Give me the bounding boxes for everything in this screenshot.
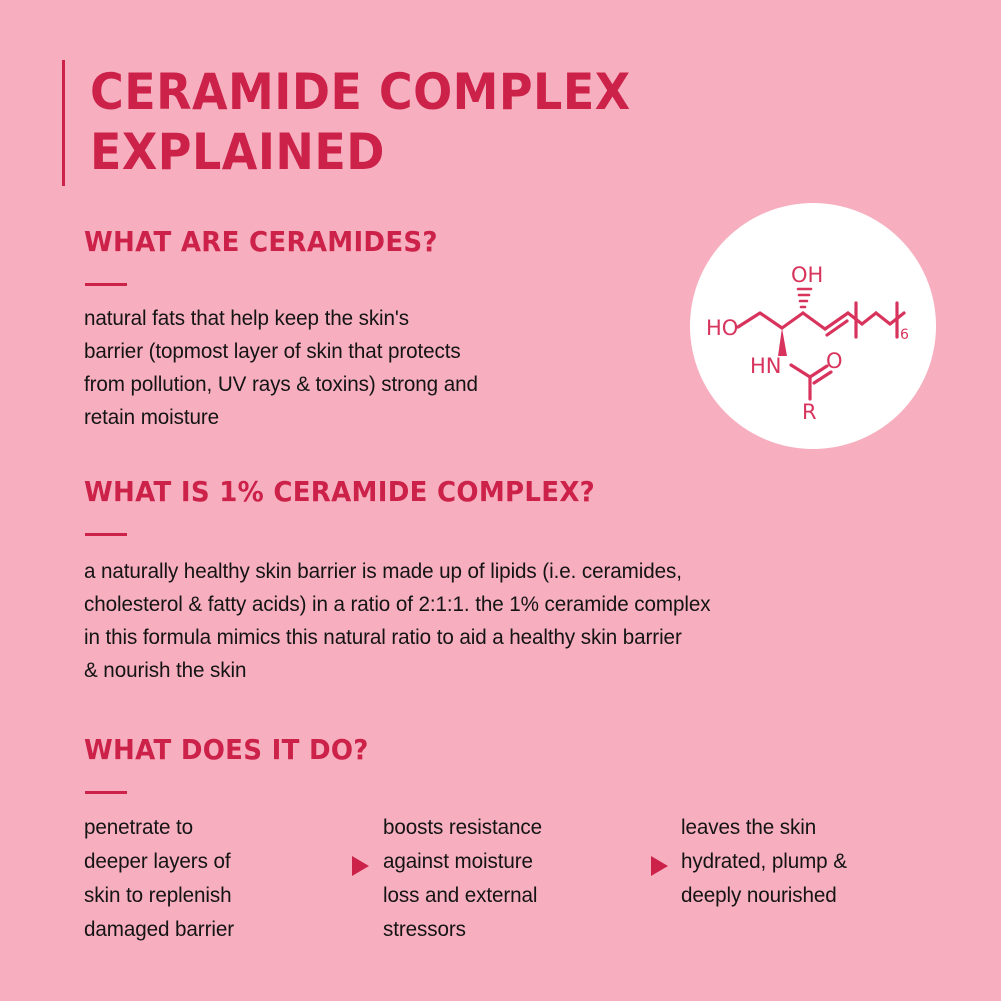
benefit-column-2: boosts resistance against moisture loss … [383,810,627,946]
ceramide-structure-icon: HO OH HN O R 6 [690,203,936,449]
section-rule-2 [85,533,127,536]
infographic-page: CERAMIDE COMPLEX EXPLAINED WHAT ARE CERA… [0,0,1001,1001]
page-title: CERAMIDE COMPLEX EXPLAINED [62,60,762,186]
label-hn: HN [750,354,782,378]
benefit-arrow-2 [637,810,681,876]
benefit-column-3: leaves the skin hydrated, plump & deeply… [681,810,924,912]
section-heading-what-is-complex: WHAT IS 1% CERAMIDE COMPLEX? [84,475,595,509]
section-body-what-is-complex: a naturally healthy skin barrier is made… [84,555,929,687]
triangle-right-icon [352,856,369,876]
benefits-row: penetrate to deeper layers of skin to re… [84,810,934,946]
benefit-arrow-1 [339,810,383,876]
label-carbonyl-o: O [826,349,843,373]
molecule-circle: HO OH HN O R 6 [690,203,936,449]
section-heading-what-are-ceramides: WHAT ARE CERAMIDES? [84,225,438,259]
label-subscript-6: 6 [900,327,909,343]
title-text: CERAMIDE COMPLEX EXPLAINED [90,60,631,186]
hydroxyl-hash-wedge [798,289,811,307]
amide-wedge [778,328,787,356]
section-rule-1 [85,283,127,286]
section-heading-what-does-it-do: WHAT DOES IT DO? [84,733,369,767]
triangle-right-icon [651,856,668,876]
label-oh: OH [791,263,823,287]
label-ho: HO [706,316,738,340]
title-accent-bar [62,60,65,186]
section-body-what-are-ceramides: natural fats that help keep the skin's b… [84,302,660,434]
section-rule-3 [85,791,127,794]
benefit-column-1: penetrate to deeper layers of skin to re… [84,810,328,946]
label-r-group: R [802,400,817,424]
